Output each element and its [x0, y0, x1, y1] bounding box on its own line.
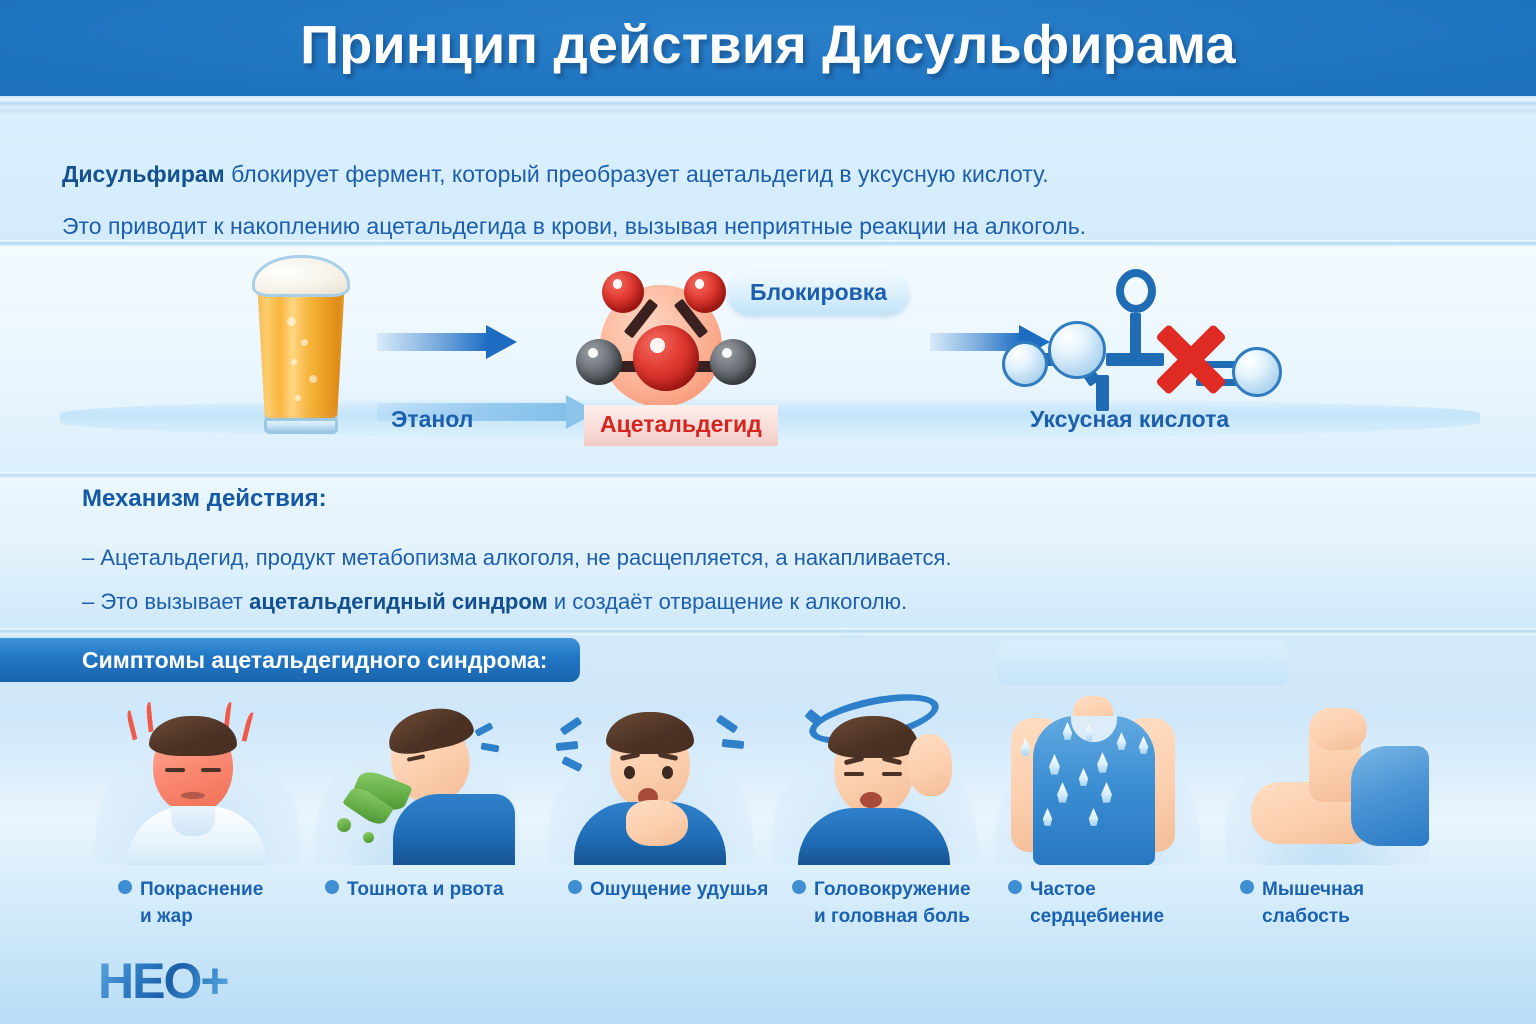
page-title: Принцип действия Дисульфирама [0, 14, 1536, 76]
symptom-label-1-line2: и жар [140, 903, 308, 930]
oxygen-atom [602, 271, 644, 313]
intro-drug-name: Дисульфирам [62, 161, 225, 187]
symptom-label-6: Мышечная слабость [1240, 876, 1430, 930]
symptoms-heading-tab: Симптомы ацетальдегидного синдрома: [0, 638, 580, 682]
symptom-label-4-line1: Головокружение [814, 879, 971, 900]
oxygen-atom [684, 271, 726, 313]
vomit-drop [363, 832, 374, 843]
acetic-acid-molecule-icon [1000, 269, 1280, 419]
acid-label-background [998, 641, 1288, 685]
eye-closed [844, 772, 864, 776]
divider-above-symptoms [0, 628, 1536, 635]
spark-icon [722, 739, 745, 749]
oxygen-ring [1116, 269, 1156, 313]
bubble [309, 375, 317, 383]
symptom-label-3-line1: Ошущение удушья [590, 879, 768, 900]
atom-highlight [588, 348, 598, 358]
acetaldehyde-label: Ацетальдегид [584, 405, 778, 446]
symptom-label-6-line2: слабость [1262, 903, 1430, 930]
spark-icon [474, 722, 493, 737]
mouth [181, 792, 205, 799]
mechanism-item-2-before: Это вызывает [100, 589, 249, 614]
vomit-drop [337, 818, 351, 832]
atom-sphere [1002, 341, 1048, 387]
bullet-dash: – [82, 589, 100, 614]
atom-highlight [650, 338, 665, 353]
arrow-shaft [377, 333, 487, 351]
symptom-illustration-sweating-torso [995, 690, 1200, 865]
symptom-illustration-flexed-arm [1225, 690, 1430, 865]
hand-at-throat [626, 800, 688, 846]
symptom-label-4-line2: и головная боль [814, 903, 992, 930]
beer-liquid [254, 277, 348, 425]
bullet-dot [1240, 880, 1254, 894]
hydrogen-atom [710, 339, 756, 385]
hydrogen-atom [576, 339, 622, 385]
bullet-dot [118, 880, 132, 894]
mechanism-item-2-bold: ацетальдегидный синдром [249, 589, 548, 614]
sleeve [1351, 746, 1429, 846]
heat-wave-icon [241, 712, 255, 743]
symptom-label-1: Покраснение и жар [118, 876, 308, 930]
eye-closed [201, 768, 221, 772]
symptom-label-5-line1: Частое [1030, 879, 1096, 900]
mechanism-item-2-after: и создаёт отвращение к алкоголю. [548, 589, 907, 614]
symptom-label-2: Тошнота и рвота [325, 876, 535, 903]
symptom-label-6-line1: Мышечная [1262, 879, 1364, 900]
intro-line-1: Дисульфирам блокирует фермент, который п… [62, 148, 1362, 200]
symptom-label-4: Головокружение и головная боль [792, 876, 992, 930]
beer-foam [252, 255, 350, 297]
divider-above-reaction [0, 240, 1536, 247]
header-stripe-decoration [0, 96, 1536, 114]
bullet-dash: – [82, 545, 100, 570]
spark-icon [716, 715, 739, 734]
symptom-label-5: Частое сердцебиение [1008, 876, 1208, 930]
mechanism-item-1-text: Ацетальдегид, продукт метабопизма алкого… [100, 545, 951, 570]
atom-highlight [695, 279, 704, 288]
brand-logo: НЕО+ [98, 952, 228, 1010]
heat-wave-icon [125, 710, 139, 741]
symptom-label-1-line1: Покраснение [140, 879, 263, 900]
symptom-illustration-choking [548, 690, 753, 865]
arrow-head [486, 325, 517, 359]
fist [1309, 708, 1367, 750]
symptom-illustration-flushed-face [95, 690, 300, 865]
symptom-label-5-line2: сердцебиение [1030, 903, 1208, 930]
symptoms-heading-label: Симптомы ацетальдегидного синдрома: [82, 647, 547, 674]
symptom-label-3: Ошущение удушья [568, 876, 783, 903]
intro-text-block: Дисульфирам блокирует фермент, который п… [62, 148, 1362, 252]
mechanism-heading: Механизм действия: [82, 485, 327, 513]
ethanol-label: Этанол [391, 406, 473, 433]
bullet-dot [1008, 880, 1022, 894]
spark-icon [481, 742, 500, 752]
intro-line-1-rest: блокирует фермент, который преобразует а… [225, 161, 1049, 187]
spark-icon [561, 756, 582, 772]
bubble [287, 317, 296, 326]
eye-closed [165, 768, 185, 772]
mechanism-item-2: – Это вызывает ацетальдегидный синдром и… [82, 589, 907, 615]
bullet-dot [792, 880, 806, 894]
carbon-center-atom [633, 325, 699, 391]
beer-glass-icon [246, 255, 356, 440]
hand-at-head [908, 734, 952, 796]
open-mouth [860, 792, 882, 808]
hair [606, 712, 694, 754]
shirt [393, 794, 515, 865]
mechanism-item-1: – Ацетальдегид, продукт метабопизма алко… [82, 545, 952, 571]
atom-sphere [1232, 347, 1282, 397]
symptom-label-2-line1: Тошнота и рвота [347, 879, 504, 900]
symptom-illustration-strip [0, 690, 1536, 865]
double-bond [1130, 313, 1141, 361]
block-badge: Блокировка [728, 272, 909, 315]
atom-highlight [613, 279, 622, 288]
red-x-icon [1152, 321, 1230, 399]
bubble [301, 339, 308, 346]
eye [662, 766, 673, 779]
collar [171, 806, 215, 836]
atom-sphere [1048, 321, 1106, 379]
symptom-illustration-vomiting [315, 690, 520, 865]
bullet-dot [568, 880, 582, 894]
heat-wave-icon [145, 702, 155, 733]
atom-highlight [722, 348, 732, 358]
arrow-ethanol-to-acetaldehyde [377, 325, 517, 359]
beer-glass-base [264, 418, 338, 434]
spark-icon [556, 741, 579, 751]
spark-icon [560, 717, 583, 736]
acetic-acid-label: Уксусная кислота [1030, 406, 1229, 433]
symptom-illustration-dizzy [772, 690, 977, 865]
bubble [295, 395, 301, 401]
eye-closed [882, 772, 902, 776]
divider-below-reaction [0, 472, 1536, 479]
eye [624, 766, 635, 779]
bullet-dot [325, 880, 339, 894]
infographic-page: Принцип действия Дисульфирама Дисульфира… [0, 0, 1536, 1024]
bubble [291, 359, 297, 365]
